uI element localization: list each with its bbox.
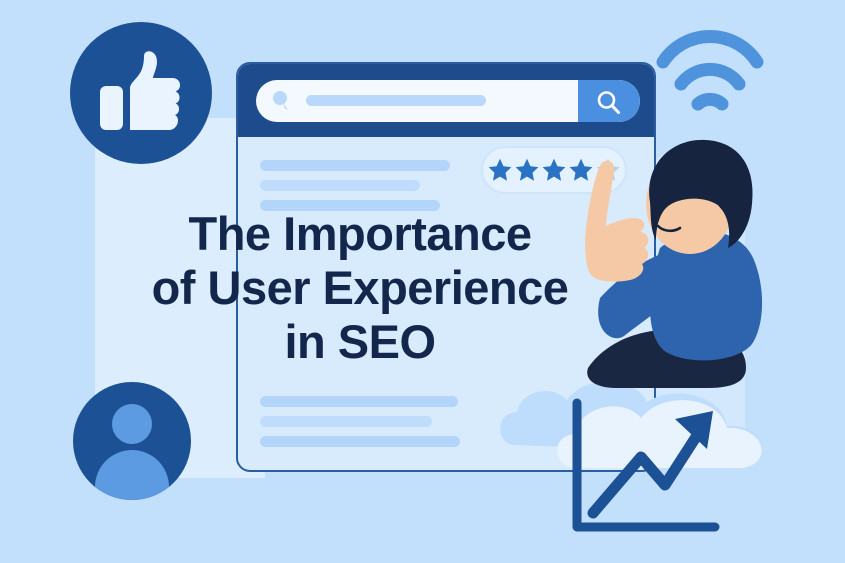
star-icon-filled[interactable] [514, 157, 540, 183]
page-title-line-2: of User Experience [130, 261, 590, 315]
page-title: The Importance of User Experience in SEO [130, 207, 590, 369]
search-icon [270, 89, 294, 113]
hero-illustration-canvas: The Importance of User Experience in SEO [0, 0, 845, 563]
content-line [260, 396, 458, 407]
content-line [260, 160, 450, 171]
person-ear [703, 203, 721, 221]
wifi-signal-icon [655, 28, 765, 118]
page-title-line-3: in SEO [130, 315, 590, 369]
growth-arrow-chart-icon [565, 395, 735, 540]
content-line [260, 416, 432, 427]
page-title-line-1: The Importance [130, 207, 590, 261]
thumbs-up-icon [100, 50, 182, 136]
browser-header-bar [238, 64, 654, 137]
magnifier-icon [595, 89, 623, 117]
search-input[interactable] [306, 95, 486, 106]
content-line [260, 180, 420, 191]
user-avatar-badge [73, 382, 191, 500]
person-hand [585, 161, 648, 282]
person-eye [664, 190, 672, 202]
content-line [260, 436, 460, 447]
avatar-body-shape [95, 450, 169, 500]
search-submit-button[interactable] [578, 80, 640, 122]
thumbs-up-badge [70, 22, 212, 164]
search-bar[interactable] [256, 80, 640, 122]
user-avatar-icon [112, 404, 152, 444]
star-icon-filled[interactable] [487, 157, 513, 183]
